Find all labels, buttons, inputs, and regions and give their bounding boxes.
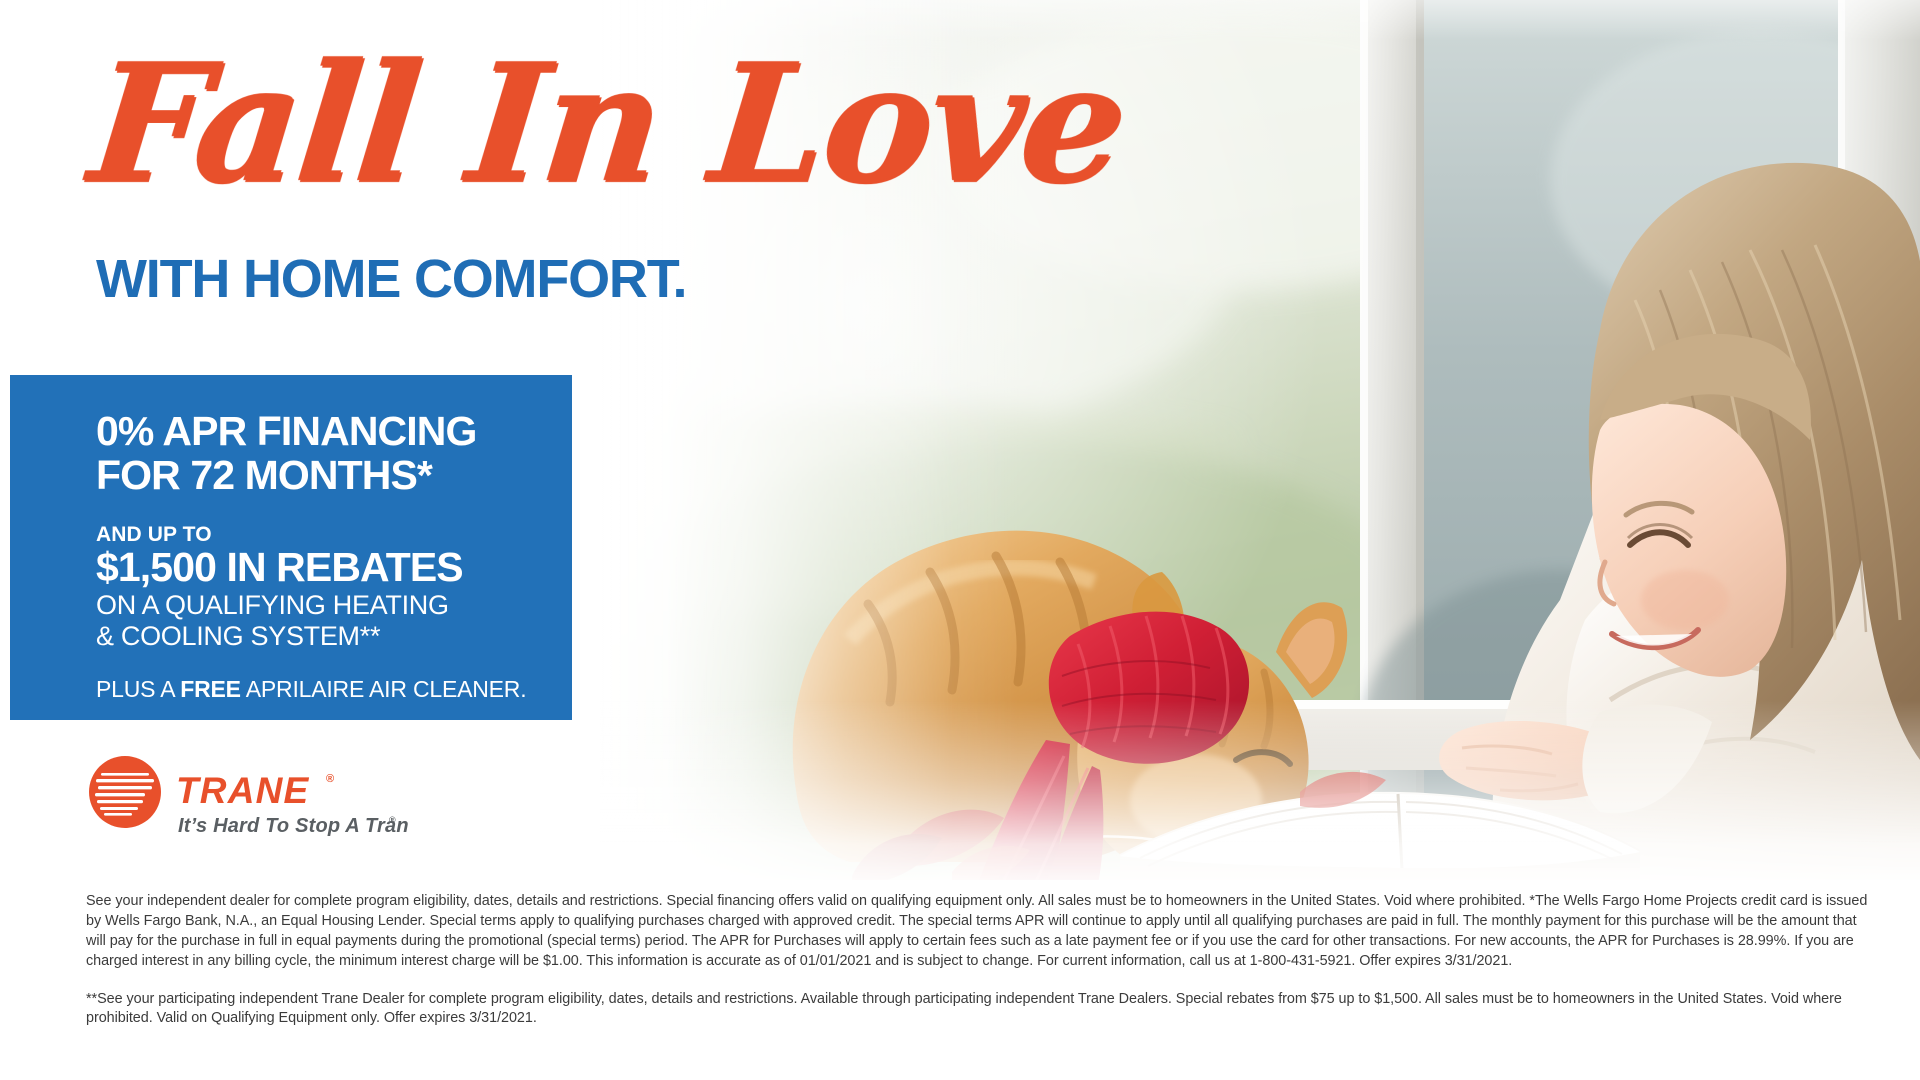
headline-fall-in-love: Fall In Love xyxy=(83,42,1130,205)
legal-fine-print: See your independent dealer for complete… xyxy=(86,892,1876,1029)
offer-rebate-amount: $1,500 IN REBATES xyxy=(96,547,532,589)
offer-financing-line1: 0% APR FINANCING xyxy=(96,409,532,453)
offer-plus-free: FREE xyxy=(180,676,241,702)
trane-registered-mark: ® xyxy=(326,773,334,785)
fine-print-paragraph-1: See your independent dealer for complete… xyxy=(86,892,1876,972)
offer-financing-line2: FOR 72 MONTHS* xyxy=(96,453,532,497)
advertisement-banner: Fall In Love WITH HOME COMFORT. 0% APR F… xyxy=(0,0,1920,1080)
trane-tagline: It’s Hard To Stop A Trane. xyxy=(178,815,408,837)
offer-qualifying-line1: ON A QUALIFYING HEATING xyxy=(96,590,532,621)
offer-plus-suffix: APRILAIRE AIR CLEANER. xyxy=(241,676,527,702)
offer-plus-prefix: PLUS A xyxy=(96,676,180,702)
offer-qualifying-terms: ON A QUALIFYING HEATING & COOLING SYSTEM… xyxy=(96,590,532,652)
trane-tagline-registered-mark: ® xyxy=(389,815,396,825)
trane-logo: TRANE ® It’s Hard To Stop A Trane. ® xyxy=(88,752,408,850)
trane-logo-mark xyxy=(89,756,161,828)
trane-logo-svg: TRANE ® It’s Hard To Stop A Trane. ® xyxy=(88,752,408,850)
offer-financing: 0% APR FINANCING FOR 72 MONTHS* xyxy=(96,409,532,498)
offer-qualifying-line2: & COOLING SYSTEM** xyxy=(96,621,532,652)
offer-free-air-cleaner: PLUS A FREE APRILAIRE AIR CLEANER. xyxy=(96,678,532,701)
fine-print-paragraph-2: **See your participating independent Tra… xyxy=(86,990,1876,1030)
offer-and-up-to-label: AND UP TO xyxy=(96,524,532,545)
trane-wordmark: TRANE xyxy=(176,770,310,811)
offer-box: 0% APR FINANCING FOR 72 MONTHS* AND UP T… xyxy=(10,375,572,720)
subheadline-with-home-comfort: WITH HOME COMFORT. xyxy=(96,252,686,306)
